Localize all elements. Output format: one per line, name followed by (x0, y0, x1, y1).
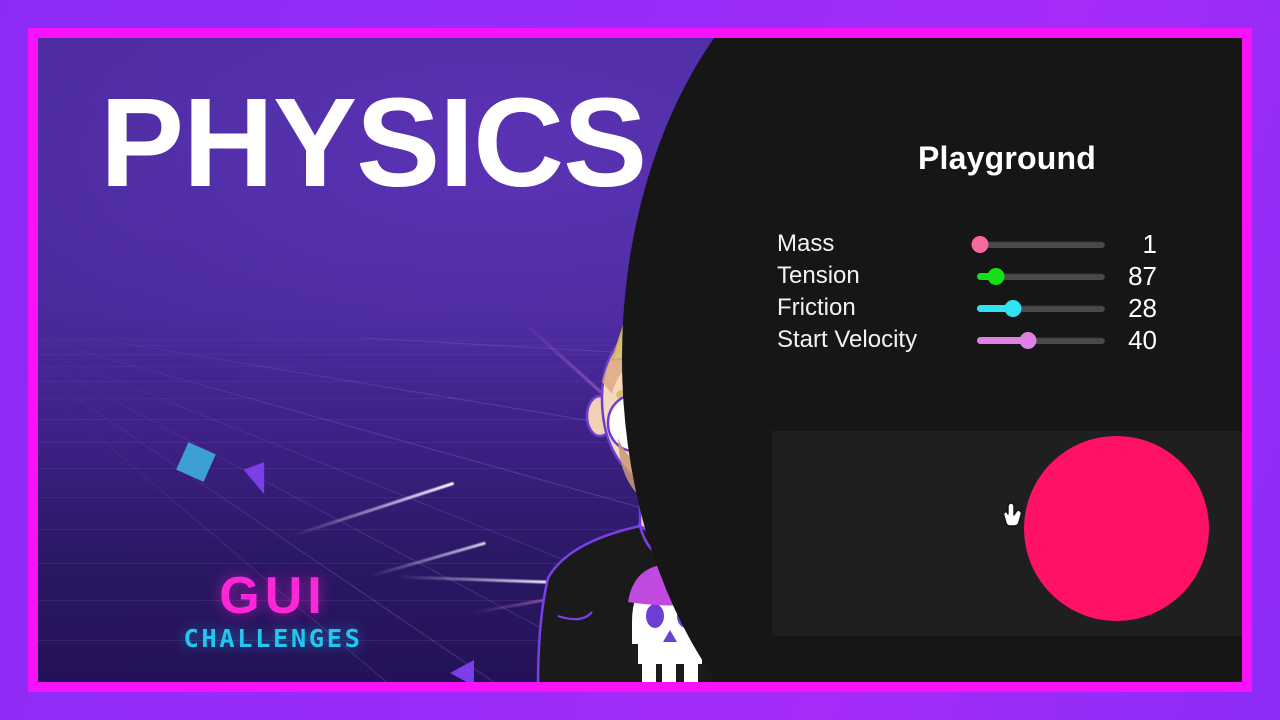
slider-thumb[interactable] (1004, 300, 1021, 317)
slider-row: Mass1 (777, 228, 1197, 260)
slider-value: 28 (1105, 295, 1175, 321)
slider-label: Start Velocity (777, 328, 977, 352)
slider-mass[interactable] (977, 228, 1105, 260)
page-title: PHYSICS (100, 80, 646, 206)
logo-line-gui: GUI (148, 570, 398, 622)
slider-value: 87 (1105, 263, 1175, 289)
slide-frame: PHYSICS GUI CHALLENGES (0, 0, 1280, 720)
slider-label: Friction (777, 296, 977, 320)
slider-row: Friction28 (777, 292, 1197, 324)
slider-friction[interactable] (977, 292, 1105, 324)
slider-track[interactable] (977, 241, 1105, 248)
slider-value: 1 (1105, 231, 1175, 257)
gui-challenges-logo: GUI CHALLENGES (148, 570, 398, 651)
slider-thumb[interactable] (971, 236, 988, 253)
slider-row: Start Velocity40 (777, 324, 1197, 356)
slider-tension[interactable] (977, 260, 1105, 292)
slider-label: Mass (777, 232, 977, 256)
slider-controls-list: Mass1Tension87Friction28Start Velocity40 (777, 228, 1197, 356)
panel-heading: Playground (772, 140, 1242, 177)
slider-thumb[interactable] (988, 268, 1005, 285)
slider-value: 40 (1105, 327, 1175, 353)
slider-thumb[interactable] (1020, 332, 1037, 349)
slider-row: Tension87 (777, 260, 1197, 292)
slider-label: Tension (777, 264, 977, 288)
playground-ui: Playground Mass1Tension87Friction28Start… (772, 38, 1242, 682)
slider-start-velocity[interactable] (977, 324, 1105, 356)
slide-content: PHYSICS GUI CHALLENGES (38, 38, 1242, 682)
floating-triangle-purple (450, 660, 474, 682)
logo-line-challenges: CHALLENGES (146, 626, 401, 651)
